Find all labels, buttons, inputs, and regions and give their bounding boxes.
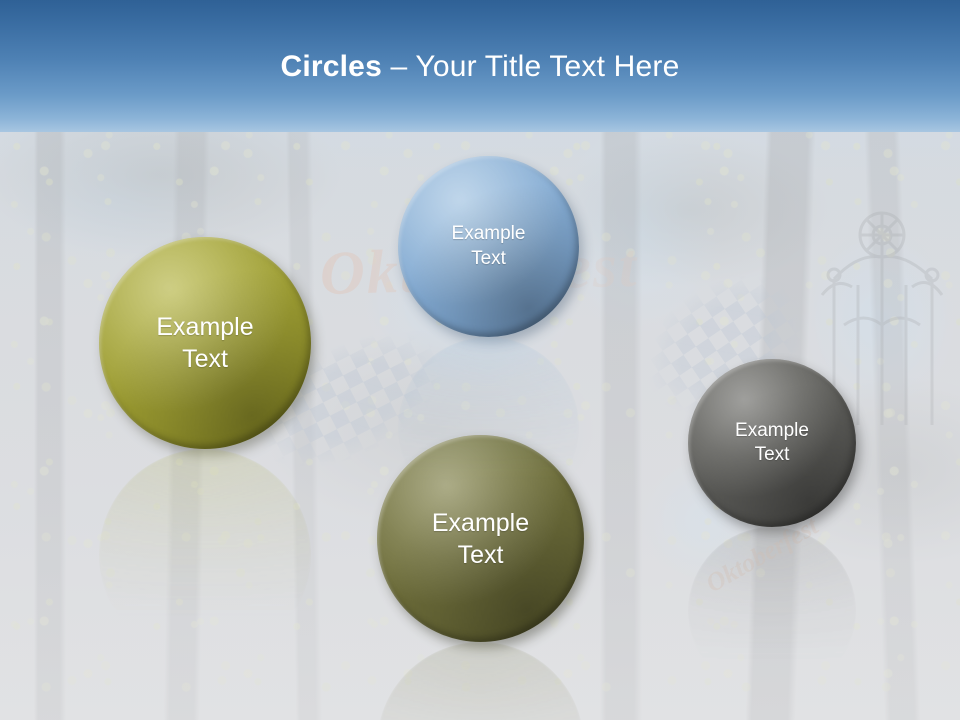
circle-node-blue-label: Example Text bbox=[442, 222, 536, 271]
circle-node-grey-label-line2: Text bbox=[755, 444, 790, 465]
circle-node-yellow-label-line1: Example bbox=[156, 313, 253, 341]
page-title: Circles – Your Title Text Here bbox=[0, 49, 960, 85]
circle-node-yellow-label-line2: Text bbox=[182, 345, 228, 373]
presentation-slide: Oktoberfest Oktoberfest Circles – Your T… bbox=[0, 0, 960, 720]
circle-node-yellow-label: Example Text bbox=[146, 311, 263, 375]
page-title-strong: Circles bbox=[280, 50, 381, 83]
circle-node-olive-label: Example Text bbox=[422, 507, 539, 571]
circle-node-grey-label-line1: Example bbox=[735, 420, 809, 441]
circle-node-blue-label-line1: Example bbox=[452, 223, 526, 244]
circle-node-blue[interactable]: Example Text bbox=[398, 156, 579, 337]
slide-header-banner: Circles – Your Title Text Here bbox=[0, 0, 960, 132]
page-title-rest: – Your Title Text Here bbox=[382, 50, 680, 83]
circle-node-olive[interactable]: Example Text bbox=[377, 435, 584, 642]
circle-node-grey[interactable]: Example Text bbox=[688, 359, 856, 527]
circle-node-olive-label-line2: Text bbox=[458, 541, 504, 569]
circle-node-yellow[interactable]: Example Text bbox=[99, 237, 311, 449]
circle-node-blue-label-line2: Text bbox=[471, 248, 506, 269]
circle-node-olive-label-line1: Example bbox=[432, 509, 529, 537]
circle-node-grey-label: Example Text bbox=[725, 419, 819, 468]
